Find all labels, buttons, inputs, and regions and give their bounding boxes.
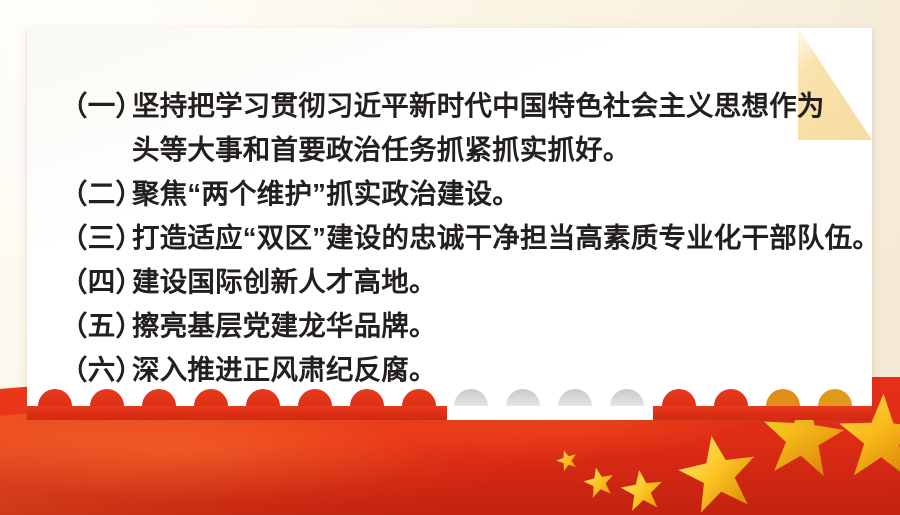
list-item-text: 擦亮基层党建龙华品牌。: [132, 304, 437, 348]
content-card: （一） 坚持把学习贯彻习近平新时代中国特色社会主义思想作为 （一） 头等大事和首…: [27, 28, 872, 418]
content-text-block: （一） 坚持把学习贯彻习近平新时代中国特色社会主义思想作为 （一） 头等大事和首…: [60, 84, 864, 392]
list-item: （三） 打造适应“双区”建设的忠诚干净担当高素质专业化干部队伍。: [60, 216, 864, 260]
gold-star-icon: [583, 466, 615, 498]
list-item: （四） 建设国际创新人才高地。: [60, 260, 864, 304]
list-item-marker: （五）: [60, 304, 132, 348]
list-item-continuation: （一） 头等大事和首要政治任务抓紧抓实抓好。: [60, 128, 864, 172]
gold-star-icon: [556, 449, 578, 471]
list-item-text: 坚持把学习贯彻习近平新时代中国特色社会主义思想作为: [132, 84, 825, 128]
list-item-text: 建设国际创新人才高地。: [132, 260, 437, 304]
list-item-marker: （三）: [60, 216, 132, 260]
gold-star-icon: [620, 468, 664, 512]
list-item-text: 聚焦“两个维护”抓实政治建设。: [132, 172, 520, 216]
list-item-marker: （四）: [60, 260, 132, 304]
poster-canvas: （一） 坚持把学习贯彻习近平新时代中国特色社会主义思想作为 （一） 头等大事和首…: [0, 0, 900, 515]
list-item-text: 深入推进正风肃纪反腐。: [132, 348, 437, 392]
list-item: （一） 坚持把学习贯彻习近平新时代中国特色社会主义思想作为: [60, 84, 864, 128]
list-item-marker: （二）: [60, 172, 132, 216]
list-item-marker: （六）: [60, 348, 132, 392]
list-item-text: 头等大事和首要政治任务抓紧抓实抓好。: [132, 128, 631, 172]
list-item: （五） 擦亮基层党建龙华品牌。: [60, 304, 864, 348]
list-item-text: 打造适应“双区”建设的忠诚干净担当高素质专业化干部队伍。: [132, 216, 880, 260]
list-item: （六） 深入推进正风肃纪反腐。: [60, 348, 864, 392]
list-item-marker: （一）: [60, 84, 132, 128]
gold-star-icon: [677, 432, 759, 514]
list-item: （二） 聚焦“两个维护”抓实政治建设。: [60, 172, 864, 216]
